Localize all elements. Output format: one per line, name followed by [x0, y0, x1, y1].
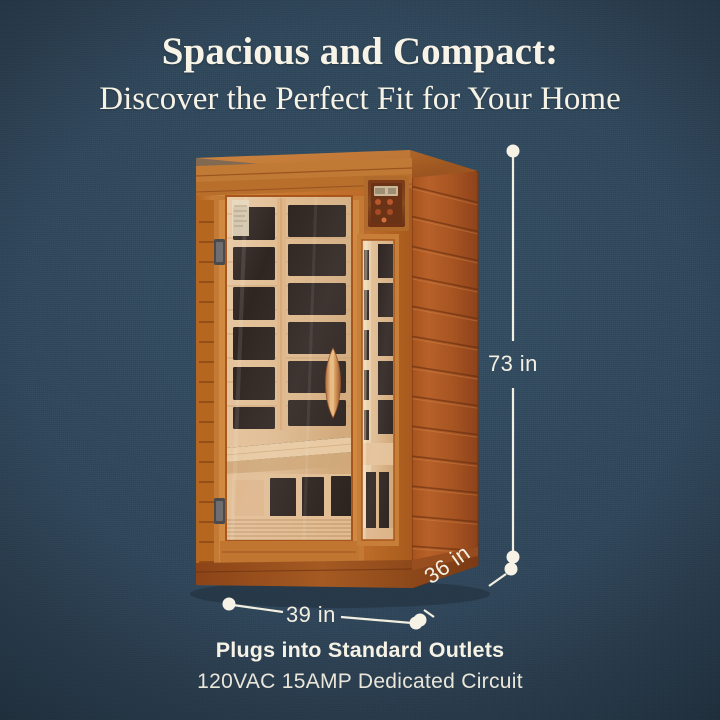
page-title: Spacious and Compact:: [0, 30, 720, 74]
control-button-1[interactable]: [375, 199, 381, 205]
infographic-canvas: Spacious and Compact: Discover the Perfe…: [0, 0, 720, 720]
control-button-2[interactable]: [387, 199, 393, 205]
control-button-power[interactable]: [382, 218, 387, 223]
control-button-3[interactable]: [375, 209, 381, 215]
side-window: [357, 234, 399, 546]
control-button-4[interactable]: [387, 209, 393, 215]
door-hinge-top: [214, 239, 225, 265]
product-label-sticker: [232, 200, 249, 236]
sauna-door[interactable]: [220, 196, 359, 563]
heading-block: Spacious and Compact: Discover the Perfe…: [0, 30, 720, 119]
footer-primary-text: Plugs into Standard Outlets: [0, 638, 720, 663]
control-panel[interactable]: [364, 176, 409, 231]
sauna-side-wall: [410, 152, 480, 588]
page-subtitle: Discover the Perfect Fit for Your Home: [0, 80, 720, 120]
door-hinge-bottom: [214, 498, 225, 524]
footer-block: Plugs into Standard Outlets 120VAC 15AMP…: [0, 638, 720, 694]
footer-secondary-text: 120VAC 15AMP Dedicated Circuit: [0, 670, 720, 694]
